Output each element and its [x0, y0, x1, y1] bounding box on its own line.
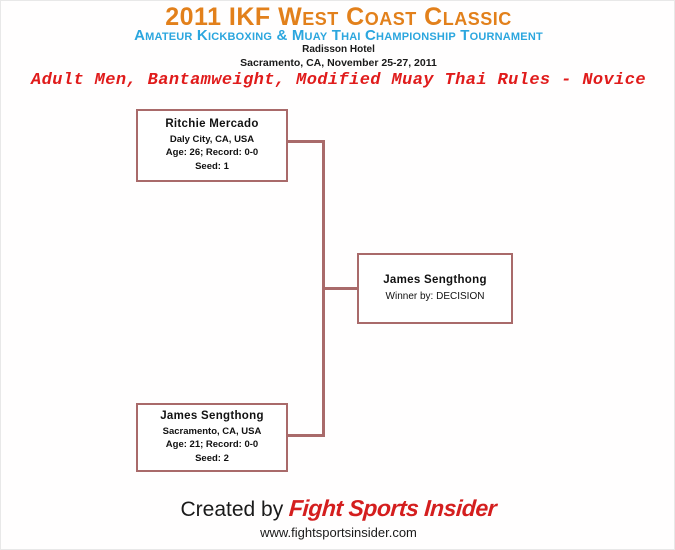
winner-result: Winner by: DECISION — [386, 289, 485, 304]
competitor-hometown: Sacramento, CA, USA — [163, 425, 262, 439]
bracket-connector-winner — [322, 287, 359, 290]
competitor-hometown: Daly City, CA, USA — [170, 133, 254, 147]
competitor-box-2[interactable]: James Sengthong Sacramento, CA, USA Age:… — [136, 403, 288, 472]
winner-box[interactable]: James Sengthong Winner by: DECISION — [357, 253, 513, 324]
competitor-name: James Sengthong — [160, 409, 264, 425]
footer-credit: Created byFight Sports Insider — [1, 495, 675, 522]
bracket-connector-top — [288, 140, 325, 143]
bracket-page: 2011 IKF West Coast Classic Amateur Kick… — [0, 0, 675, 550]
footer-website[interactable]: www.fightsportsinsider.com — [1, 525, 675, 540]
bracket-connector-bottom — [288, 434, 325, 437]
winner-name: James Sengthong — [383, 273, 487, 289]
event-venue: Radisson Hotel — [1, 44, 675, 55]
competitor-stats: Age: 26; Record: 0-0 — [166, 146, 258, 160]
division-title: Adult Men, Bantamweight, Modified Muay T… — [1, 71, 675, 90]
footer-created-label: Created by — [181, 498, 284, 521]
fight-sports-insider-logo: Fight Sports Insider — [288, 495, 497, 522]
competitor-stats: Age: 21; Record: 0-0 — [166, 438, 258, 452]
competitor-box-1[interactable]: Ritchie Mercado Daly City, CA, USA Age: … — [136, 109, 288, 182]
competitor-seed: Seed: 2 — [195, 452, 229, 466]
event-location-date: Sacramento, CA, November 25-27, 2011 — [1, 57, 675, 69]
event-subtitle: Amateur Kickboxing & Muay Thai Champions… — [1, 27, 675, 44]
competitor-seed: Seed: 1 — [195, 160, 229, 174]
competitor-name: Ritchie Mercado — [165, 117, 258, 133]
